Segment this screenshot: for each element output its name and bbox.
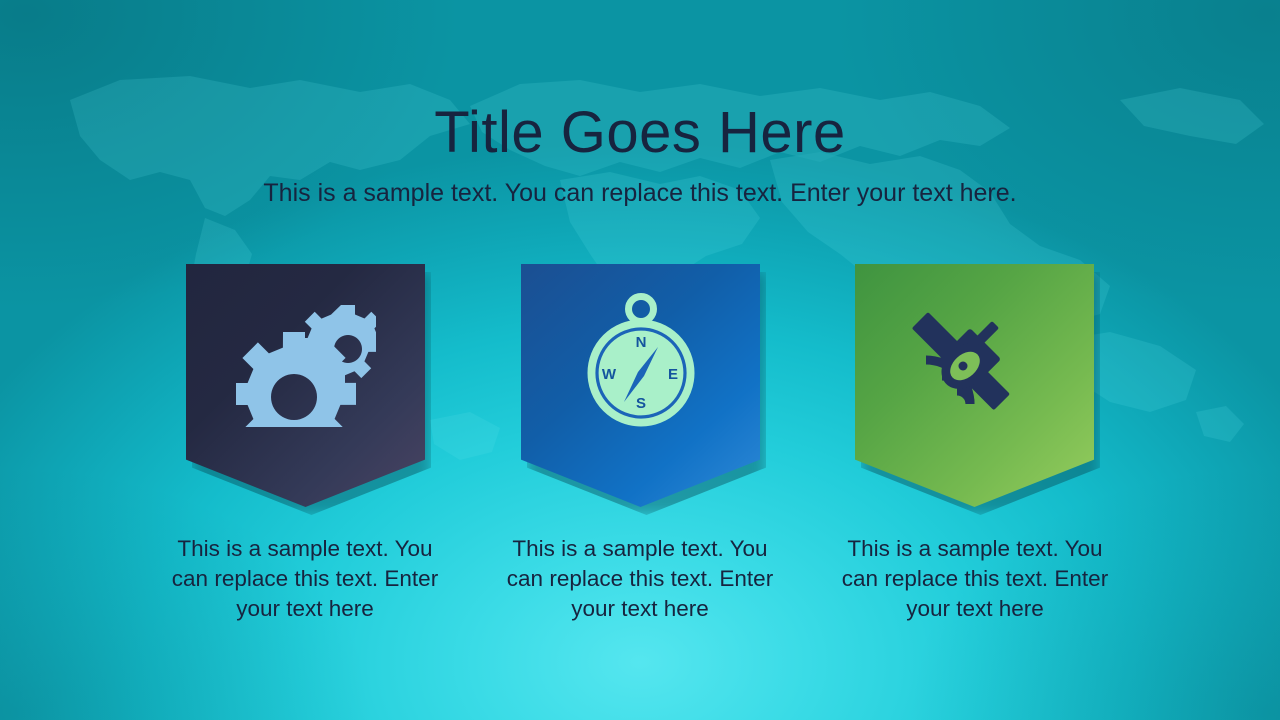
caption-text-3: This is a sample text. You can replace t… <box>830 534 1120 624</box>
caption-group: This is a sample text. You can replace t… <box>0 534 1280 654</box>
compass-label-south: S <box>635 395 645 412</box>
caption-text-1: This is a sample text. You can replace t… <box>160 534 450 624</box>
compass-label-east: E <box>667 366 677 383</box>
compass-label-north: N <box>635 334 646 351</box>
ribbon-group: N E S W <box>0 264 1280 514</box>
page-title: Title Goes Here <box>0 101 1280 165</box>
compass-icon: N E S W <box>521 264 760 460</box>
compass-label-west: W <box>601 366 616 383</box>
satellite-icon <box>855 264 1094 460</box>
caption-text-2: This is a sample text. You can replace t… <box>495 534 785 624</box>
ribbon-card-3[interactable] <box>855 264 1094 507</box>
page-subtitle: This is a sample text. You can replace t… <box>0 178 1280 209</box>
slide-canvas: Title Goes Here This is a sample text. Y… <box>0 0 1280 720</box>
ribbon-card-2[interactable]: N E S W <box>521 264 760 507</box>
ribbon-card-1[interactable] <box>186 264 425 507</box>
gears-icon <box>186 264 425 460</box>
